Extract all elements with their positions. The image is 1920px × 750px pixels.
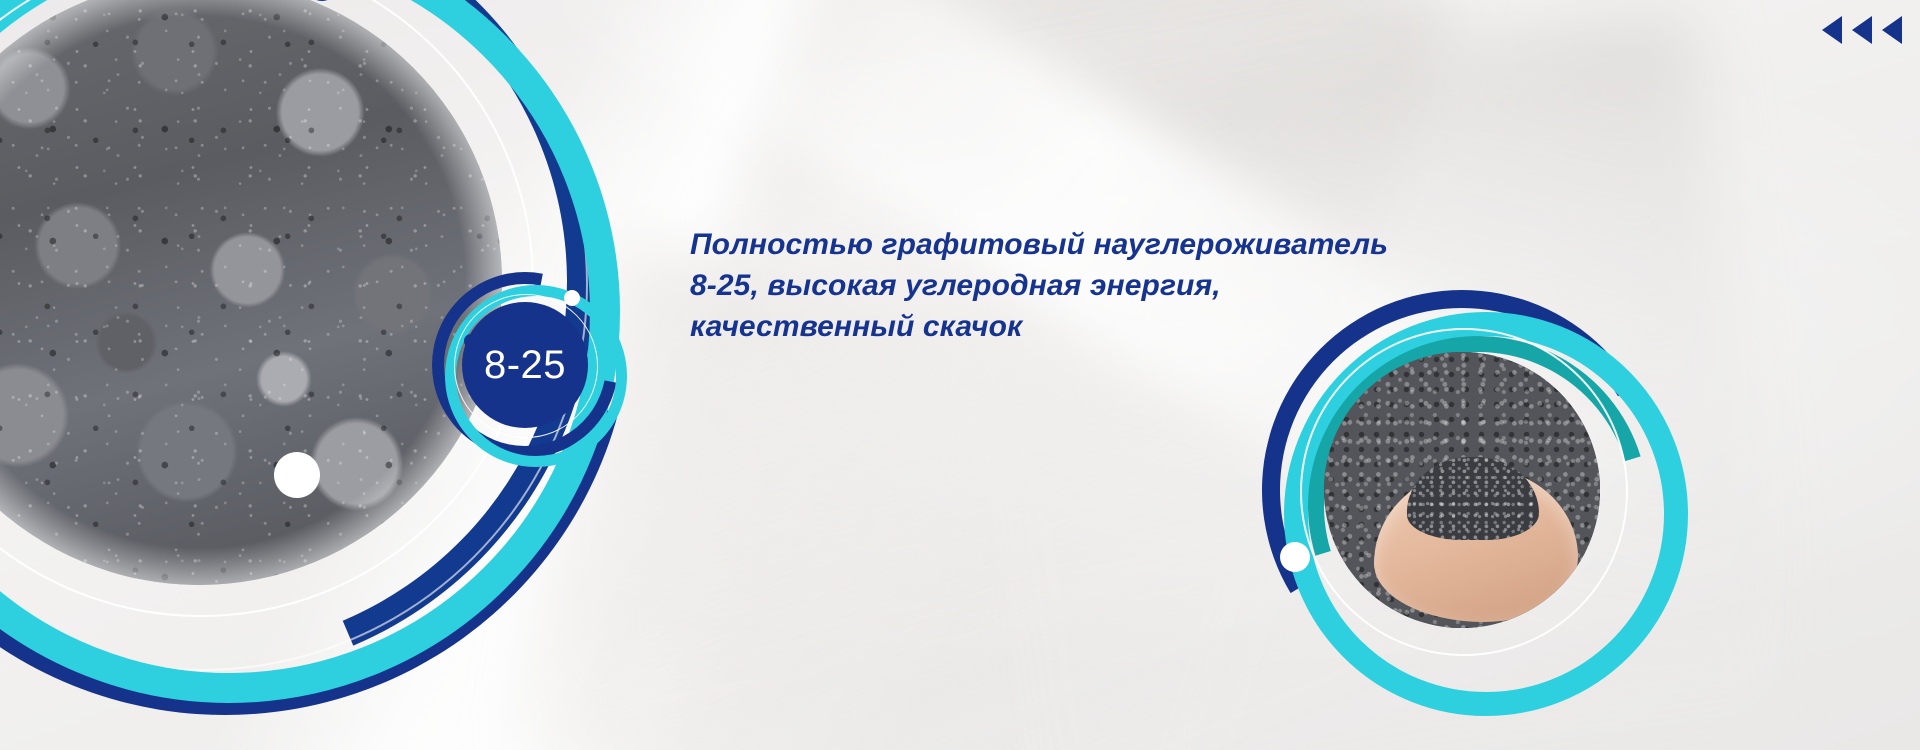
- badge-navy-dot: [464, 334, 478, 348]
- left-circle-white-dot: [274, 452, 320, 498]
- right-product-photo: [1324, 352, 1600, 628]
- right-circle-white-dot: [1280, 542, 1310, 572]
- left-photo-edge-fade: [0, 0, 502, 585]
- triangle-left-icon: [1882, 16, 1902, 44]
- product-banner: 8-25 Полностью графитовый науглероживате…: [0, 0, 1920, 750]
- badge-white-dot: [564, 290, 580, 306]
- badge-core: 8-25: [462, 302, 588, 428]
- right-product-circle: [1262, 290, 1662, 690]
- size-badge: 8-25: [432, 272, 618, 458]
- badge-label: 8-25: [484, 343, 566, 388]
- headline-line-1: Полностью графитовый науглероживатель: [690, 224, 1390, 265]
- triangle-left-icon: [1852, 16, 1872, 44]
- left-product-photo: [0, 0, 502, 585]
- arrow-group: [1822, 16, 1902, 44]
- triangle-left-icon: [1822, 16, 1842, 44]
